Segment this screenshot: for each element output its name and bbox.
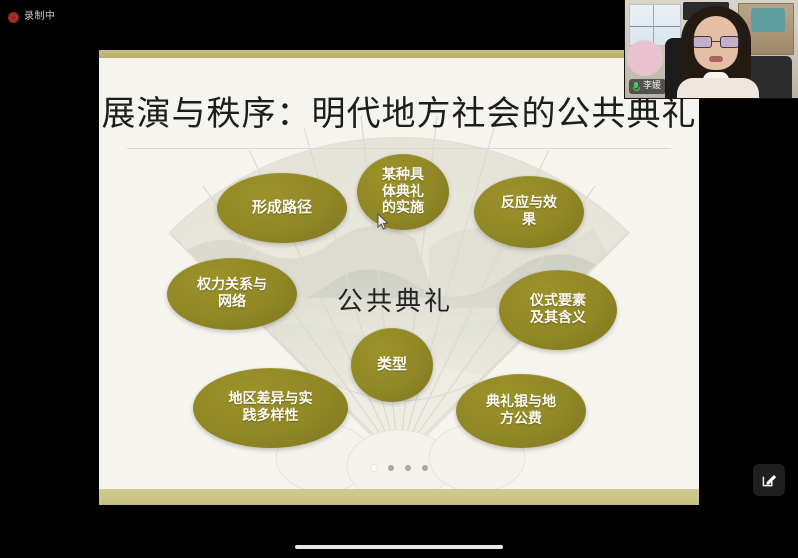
slide-canvas: 展演与秩序：明代地方社会的公共典礼 公共典礼 形成路径某种具体典礼的实施反应与效… xyxy=(99,58,699,489)
page-dot-2[interactable] xyxy=(388,465,394,471)
node-regional-diversity[interactable]: 地区差异与实践多样性 xyxy=(193,368,348,448)
glasses-icon xyxy=(693,36,739,48)
diagram-center-label: 公共典礼 xyxy=(337,281,453,318)
slide-page-dots[interactable] xyxy=(99,465,699,471)
node-ceremony-silver-funds[interactable]: 典礼银与地方公费 xyxy=(456,374,586,448)
diagram-node-label: 权力关系与网络 xyxy=(197,277,267,310)
annotate-pen-icon xyxy=(760,471,778,489)
home-indicator xyxy=(295,545,503,549)
participant-nameplate: 李媛 xyxy=(629,79,666,94)
diagram-node-label: 仪式要素及其含义 xyxy=(530,293,586,326)
diagram-node-label: 反应与效果 xyxy=(501,195,557,228)
participant-name: 李媛 xyxy=(643,82,661,91)
participant-video-tile[interactable]: 李媛 xyxy=(624,0,798,99)
page-dot-1[interactable] xyxy=(371,465,377,471)
shared-slide[interactable]: 展演与秩序：明代地方社会的公共典礼 公共典礼 形成路径某种具体典礼的实施反应与效… xyxy=(99,50,699,505)
diagram-node-label: 地区差异与实践多样性 xyxy=(229,391,313,424)
title-divider xyxy=(127,148,671,149)
pink-object xyxy=(627,40,663,76)
diagram-node-label: 形成路径 xyxy=(252,199,312,217)
recording-badge: 录制中 xyxy=(8,8,56,26)
node-formation-path[interactable]: 形成路径 xyxy=(217,173,347,243)
node-ceremony-implementation[interactable]: 某种具体典礼的实施 xyxy=(357,154,449,230)
slide-bottom-band xyxy=(99,489,699,505)
node-ritual-elements-meaning[interactable]: 仪式要素及其含义 xyxy=(499,270,617,350)
recording-label: 录制中 xyxy=(24,12,56,22)
node-type[interactable]: 类型 xyxy=(351,328,433,402)
person-mouth xyxy=(709,56,723,62)
page-dot-3[interactable] xyxy=(405,465,411,471)
page-dot-4[interactable] xyxy=(422,465,428,471)
node-response-effect[interactable]: 反应与效果 xyxy=(474,176,584,248)
record-dot-icon xyxy=(8,12,19,23)
node-power-relations-network[interactable]: 权力关系与网络 xyxy=(167,258,297,330)
page-title: 展演与秩序：明代地方社会的公共典礼 xyxy=(99,86,699,135)
teal-box-object xyxy=(751,8,785,32)
person-body xyxy=(677,78,759,99)
diagram-node-label: 某种具体典礼的实施 xyxy=(382,167,424,217)
slide-top-band xyxy=(99,50,699,58)
diagram-node-label: 类型 xyxy=(377,356,407,374)
annotate-button[interactable] xyxy=(753,464,785,496)
screen-sharing-view: 录制中 xyxy=(0,0,798,558)
microphone-icon xyxy=(632,82,640,92)
diagram-node-label: 典礼银与地方公费 xyxy=(486,394,556,427)
